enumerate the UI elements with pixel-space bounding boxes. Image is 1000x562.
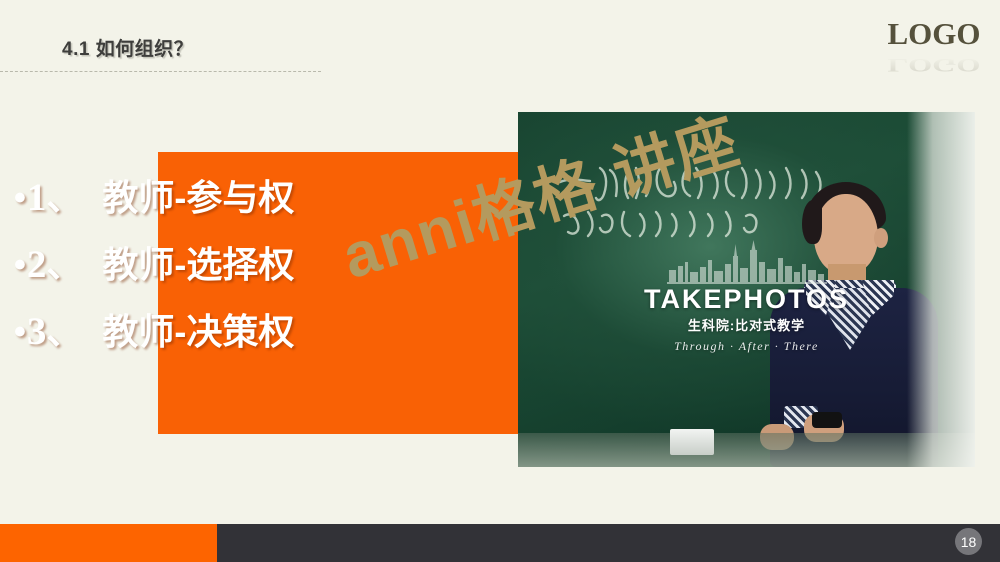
bullet-text: 教师-参与权 (102, 177, 294, 218)
chalk-eraser (670, 429, 714, 455)
presentation-slide: 4.1 如何组织？ LOGO LOGO •1、教师-参与权 •2、教师-选择权 … (0, 0, 1000, 562)
wall-light (907, 112, 975, 467)
bullet-text: 教师-选择权 (102, 244, 294, 285)
bullet-number: 3 (27, 310, 47, 353)
logo-text: LOGO (882, 18, 986, 49)
head (814, 194, 878, 274)
bullet-text: 教师-决策权 (102, 311, 294, 352)
page-title: 4.1 如何组织？ (62, 34, 193, 61)
hair-side (802, 200, 822, 244)
bullet-dot-icon: • (14, 315, 26, 349)
footer-accent (0, 524, 217, 562)
list-item: •3、教师-决策权 (14, 312, 294, 351)
presentation-clicker (812, 412, 842, 428)
footer-bar: 18 (0, 524, 1000, 562)
bullet-separator: 、 (46, 177, 82, 218)
list-item: •2、教师-选择权 (14, 245, 294, 284)
logo: LOGO LOGO (882, 18, 986, 81)
bullet-dot-icon: • (14, 248, 26, 282)
bullet-number: 1 (27, 176, 47, 219)
lecture-photo: TAKEPHOTOS 生科院:比对式教学 Through · After · T… (518, 112, 975, 467)
logo-reflection: LOGO (882, 56, 986, 75)
title-divider (0, 71, 321, 72)
ear (874, 228, 888, 248)
bullet-separator: 、 (46, 244, 82, 285)
bullet-separator: 、 (46, 311, 82, 352)
list-item: •1、教师-参与权 (14, 178, 294, 217)
bullet-dot-icon: • (14, 181, 26, 215)
bullet-number: 2 (27, 243, 47, 286)
page-number-badge: 18 (955, 528, 982, 555)
